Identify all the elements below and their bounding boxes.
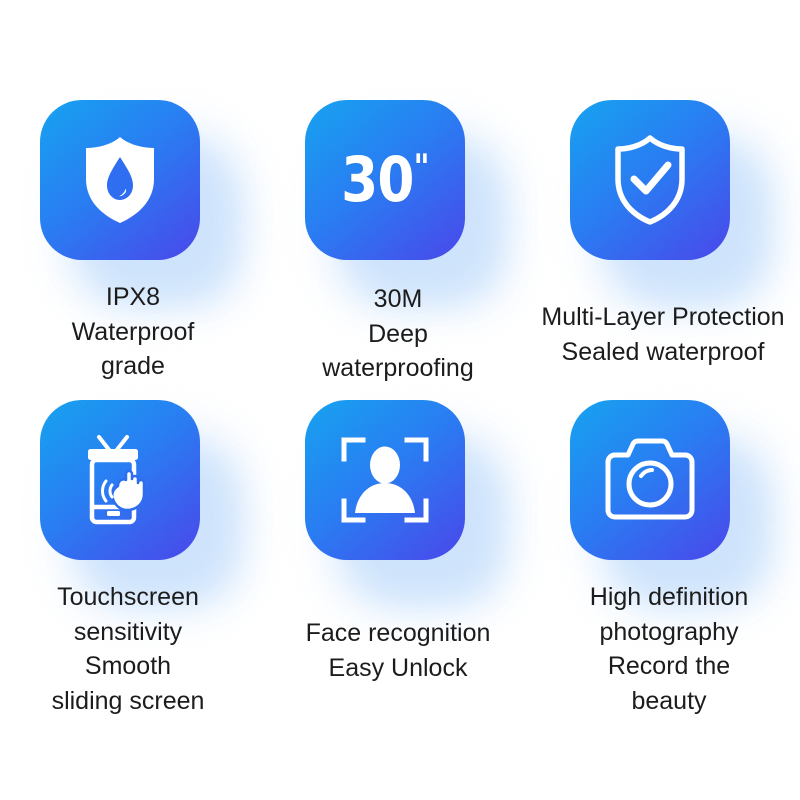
feature-card-multi-layer-protection[interactable]: Multi-Layer Protection Sealed waterproof <box>530 80 796 369</box>
depth-30-inch-text-icon: 30" <box>342 149 429 211</box>
phone-touch-icon <box>74 431 166 529</box>
feature-card-touchscreen-sensitivity[interactable]: Touchscreen sensitivity Smooth sliding s… <box>0 380 266 718</box>
feature-card-ipx8-waterproof[interactable]: IPX8 Waterproof grade <box>0 80 266 384</box>
icon-tile[interactable] <box>570 100 730 260</box>
feature-caption: Multi-Layer Protection Sealed waterproof <box>518 300 800 369</box>
face-scan-icon <box>339 435 431 525</box>
feature-caption: Touchscreen sensitivity Smooth sliding s… <box>0 580 268 718</box>
feature-card-face-recognition[interactable]: Face recognition Easy Unlock <box>265 380 531 685</box>
icon-tile-wrapper <box>0 380 266 580</box>
feature-caption: Face recognition Easy Unlock <box>253 616 543 685</box>
icon-tile-wrapper: 30" <box>265 80 531 280</box>
depth-value: 30 <box>342 143 414 216</box>
inch-mark: " <box>414 147 428 188</box>
icon-tile[interactable] <box>305 400 465 560</box>
icon-tile[interactable] <box>570 400 730 560</box>
icon-tile[interactable] <box>40 400 200 560</box>
icon-tile-wrapper <box>265 380 531 580</box>
feature-caption: 30M Deep waterproofing <box>265 282 531 386</box>
icon-tile[interactable] <box>40 100 200 260</box>
feature-card-30m-deep[interactable]: 30" 30M Deep waterproofing <box>265 80 531 386</box>
feature-grid: IPX8 Waterproof grade 30" 30M Deep water… <box>0 0 800 800</box>
shield-waterdrop-icon <box>81 135 159 225</box>
shield-check-icon <box>610 134 690 226</box>
feature-card-hd-photography[interactable]: High definition photography Record the b… <box>530 380 796 718</box>
icon-tile[interactable]: 30" <box>305 100 465 260</box>
feature-caption: High definition photography Record the b… <box>524 580 800 718</box>
icon-tile-wrapper <box>530 380 796 580</box>
camera-icon <box>600 438 700 522</box>
icon-tile-wrapper <box>530 80 796 280</box>
feature-caption: IPX8 Waterproof grade <box>0 280 266 384</box>
icon-tile-wrapper <box>0 80 266 280</box>
